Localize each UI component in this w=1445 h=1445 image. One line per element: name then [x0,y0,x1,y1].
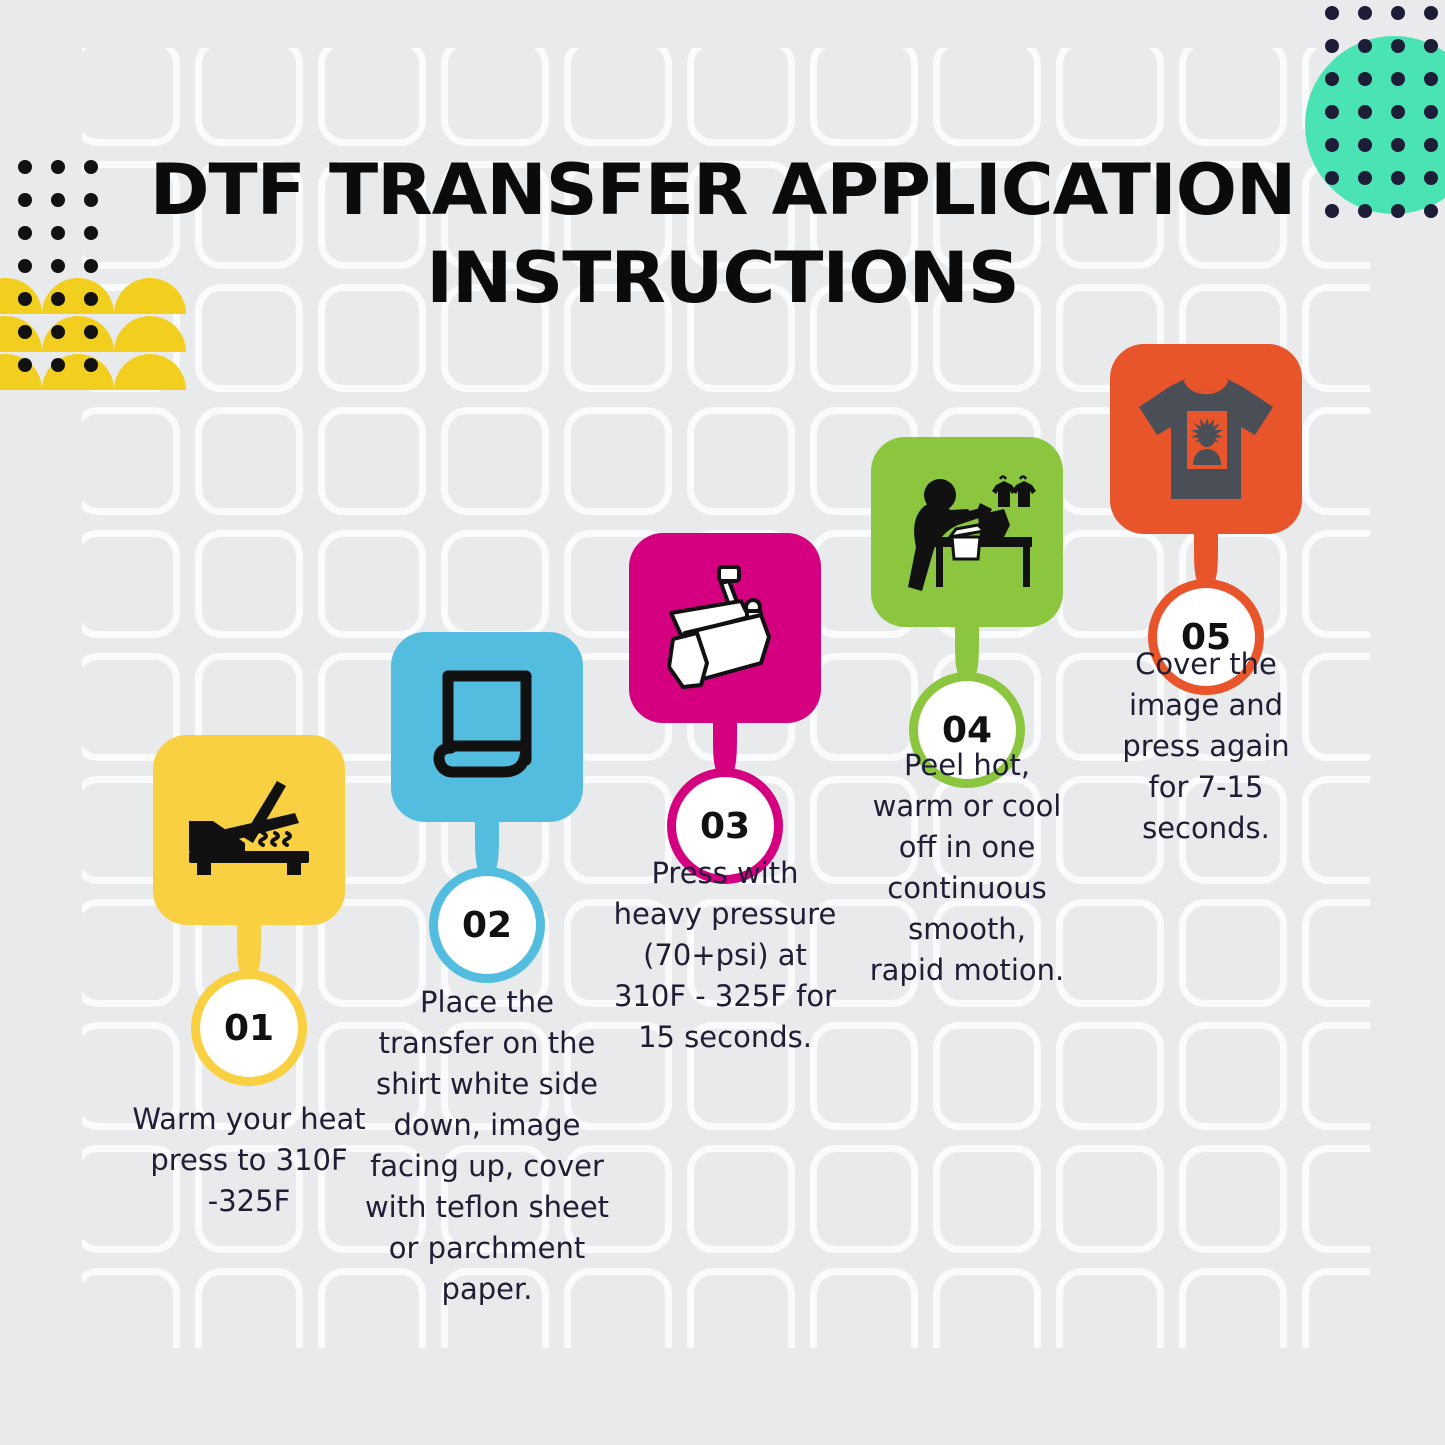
step-04-description: Peel hot, warm or cool off in one contin… [869,745,1065,991]
step-02-number: 02 [462,905,512,946]
step-05-icon-card [1110,344,1302,534]
step-02-description: Place the transfer on the shirt white si… [361,982,613,1310]
transfer-sheet-icon [431,668,543,786]
step-04-icon-card [871,437,1063,627]
step-02-icon-card [391,632,583,822]
heat-press-machine-icon [657,563,793,693]
step-01-number: 01 [224,1008,274,1049]
step-01-icon-card [153,735,345,925]
printed-tshirt-icon [1135,373,1277,505]
step-01-number-bubble: 01 [200,979,298,1077]
step-02-number-bubble: 02 [438,876,536,974]
step-03-description: Press with heavy pressure (70+psi) at 31… [611,853,839,1058]
worker-peeling-icon [892,467,1042,597]
step-03-number: 03 [700,806,750,847]
step-01-description: Warm your heat press to 310F -325F [131,1099,367,1222]
steps-container: 01 Warm your heat press to 310F -325F [0,0,1445,1445]
step-03-icon-card [629,533,821,723]
step-05-description: Cover the image and press again for 7-15… [1108,644,1304,849]
heat-press-open-icon [183,777,315,883]
